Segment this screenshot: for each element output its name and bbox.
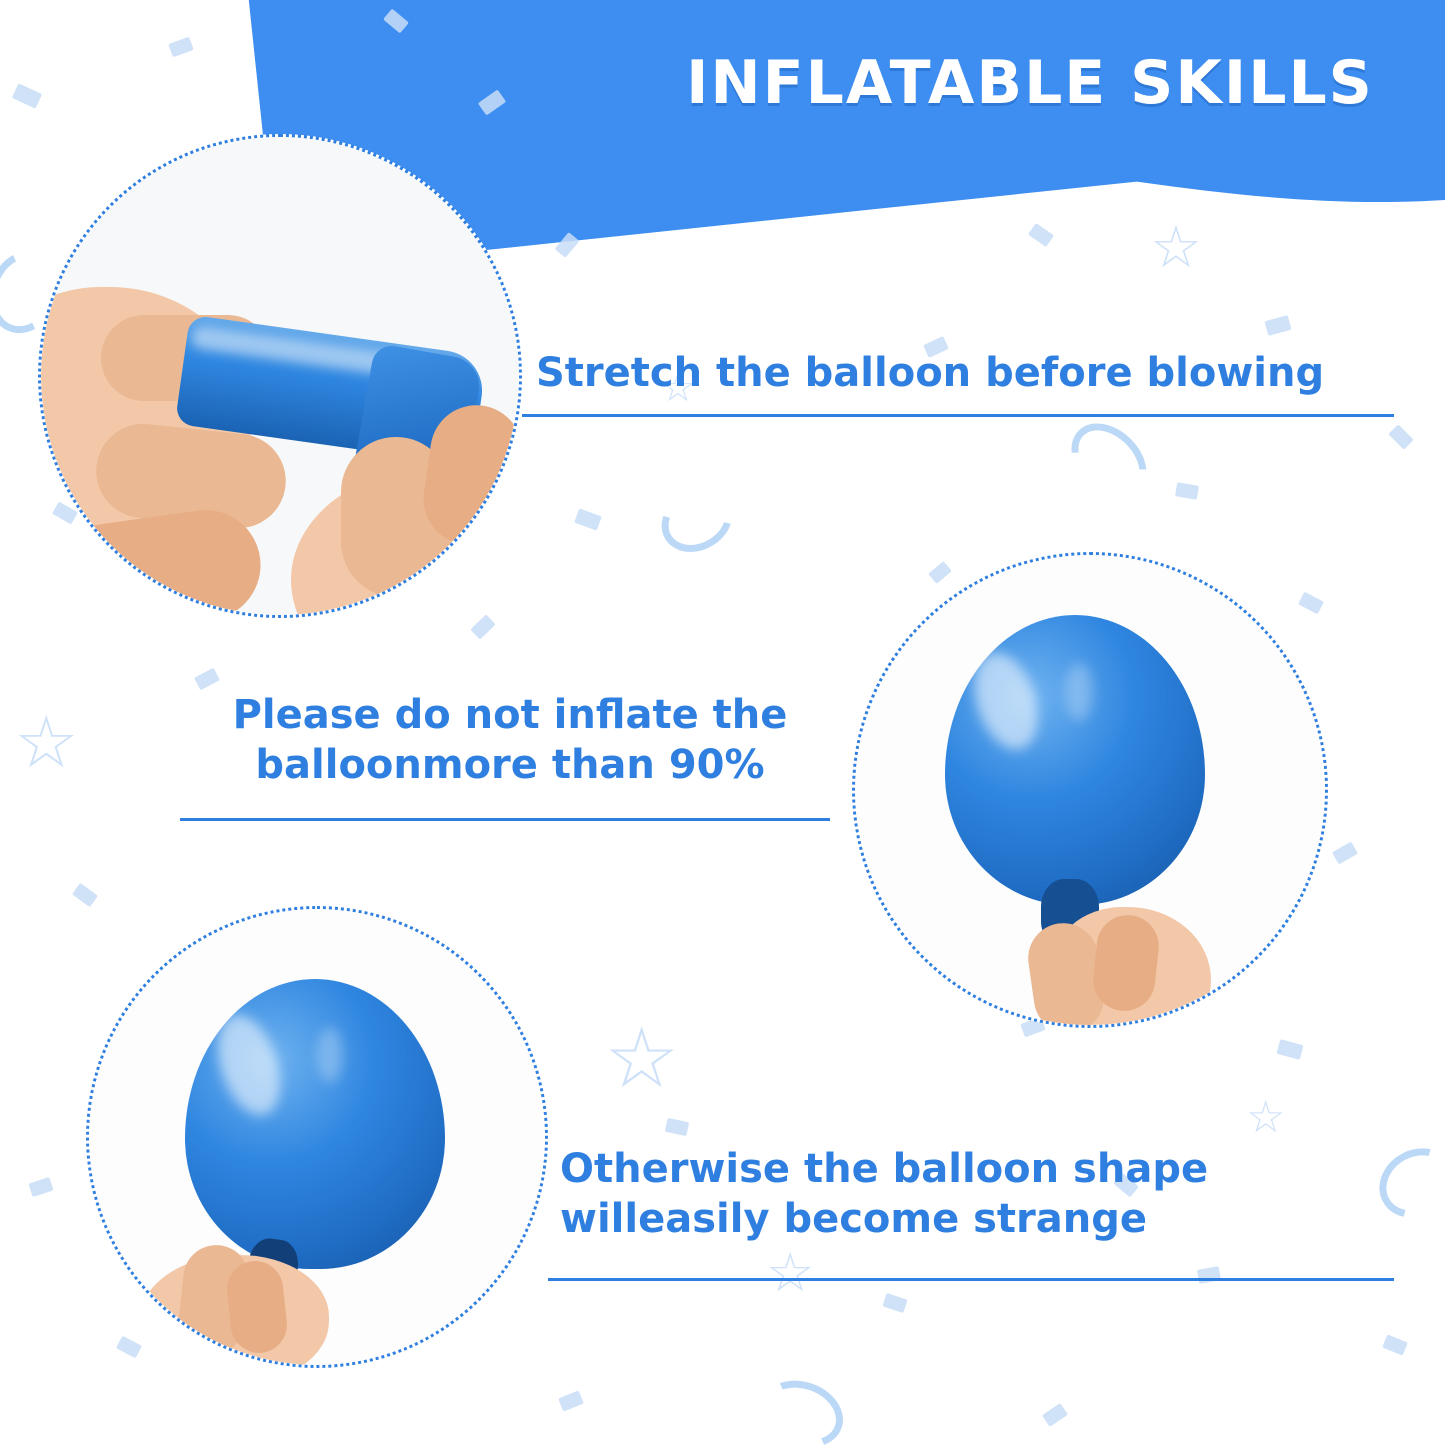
ribbon-decor <box>752 1370 853 1450</box>
tip-2-text: Please do not inflate the balloonmore th… <box>170 690 850 790</box>
photo-inflated-balloon-inner <box>855 555 1325 1025</box>
confetti-piece <box>1197 1266 1221 1284</box>
confetti-piece <box>72 883 98 907</box>
confetti-piece <box>470 614 496 639</box>
tip-1-text: Stretch the balloon before blowing <box>536 348 1392 398</box>
tip-1-rule <box>522 414 1394 417</box>
photo-stretch-balloon <box>38 134 522 618</box>
confetti-piece <box>194 668 220 691</box>
photo-stretch-balloon-inner <box>41 137 519 615</box>
tip-2-rule <box>180 818 830 821</box>
confetti-piece <box>558 1390 584 1411</box>
confetti-piece <box>574 508 602 530</box>
tip-2-line-2: balloonmore than 90% <box>170 740 850 790</box>
confetti-piece <box>1332 841 1358 864</box>
star-icon: ☆ <box>766 1246 814 1300</box>
infographic-page: INFLATABLE SKILLS ☆ ☆ ☆ <box>0 0 1445 1450</box>
confetti-piece <box>1042 1403 1068 1427</box>
tip-3-text: Otherwise the balloon shape willeasily b… <box>560 1144 1390 1244</box>
star-icon: ☆ <box>1246 1096 1285 1140</box>
star-icon: ☆ <box>1150 218 1202 276</box>
photo-tied-balloon-inner <box>89 909 545 1365</box>
confetti-piece <box>665 1118 689 1136</box>
photo-tied-balloon <box>86 906 548 1368</box>
tip-2-line-1: Please do not inflate the <box>170 690 850 740</box>
star-icon: ☆ <box>14 706 79 778</box>
ribbon-decor <box>1057 409 1162 514</box>
tip-3-line-1: Otherwise the balloon shape <box>560 1144 1390 1194</box>
balloon-gloss <box>1065 663 1093 721</box>
tip-3-line-2: willeasily become strange <box>560 1194 1390 1244</box>
confetti-piece <box>1382 1334 1408 1355</box>
confetti-piece <box>28 1177 53 1197</box>
confetti-piece <box>1276 1039 1303 1060</box>
balloon-gloss <box>317 1027 343 1083</box>
star-icon: ☆ <box>604 1016 679 1100</box>
confetti-piece <box>1388 424 1413 449</box>
confetti-piece <box>1264 315 1291 336</box>
photo-inflated-balloon <box>852 552 1328 1028</box>
tip-3-rule <box>548 1278 1394 1281</box>
confetti-piece <box>168 37 193 58</box>
confetti-piece <box>882 1293 907 1313</box>
confetti-piece <box>12 83 42 108</box>
ribbon-decor <box>650 476 744 565</box>
page-title: INFLATABLE SKILLS <box>640 48 1420 118</box>
confetti-piece <box>1175 482 1199 500</box>
